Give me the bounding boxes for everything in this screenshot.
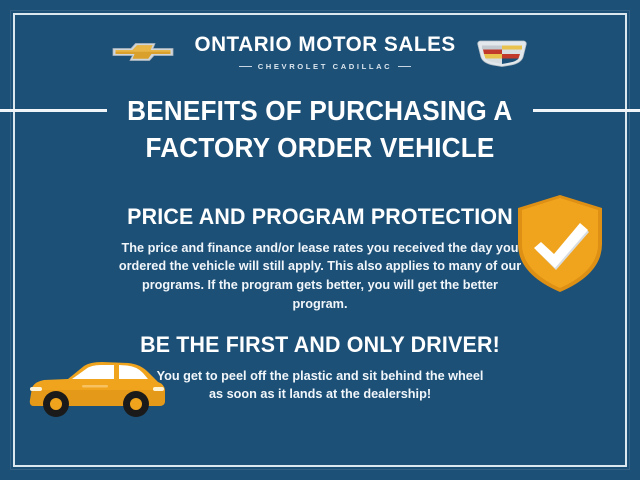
brand-text-block: ONTARIO MOTOR SALES CHEVROLET CADILLAC bbox=[189, 34, 461, 71]
title-line-2: FACTORY ORDER VEHICLE bbox=[16, 134, 624, 162]
title-rule-right-line bbox=[533, 109, 640, 112]
brand-subtitle-row: CHEVROLET CADILLAC bbox=[239, 62, 412, 71]
poster-title: BENEFITS OF PURCHASING A FACTORY ORDER V… bbox=[0, 97, 640, 161]
title-rule-left-line bbox=[0, 109, 107, 112]
dealership-header: ONTARIO MOTOR SALES CHEVROLET CADILLAC bbox=[0, 34, 640, 71]
benefit-heading: BE THE FIRST AND ONLY DRIVER! bbox=[16, 334, 624, 357]
subtitle-dash-right bbox=[398, 66, 411, 67]
chevrolet-bowtie-icon bbox=[111, 37, 175, 67]
title-line-1: BENEFITS OF PURCHASING A bbox=[127, 97, 512, 125]
subtitle-dash-left bbox=[239, 66, 252, 67]
title-line-1-row: BENEFITS OF PURCHASING A bbox=[0, 97, 640, 125]
brand-name: ONTARIO MOTOR SALES bbox=[194, 34, 455, 56]
title-rule-left bbox=[0, 106, 107, 116]
car-icon bbox=[22, 356, 170, 422]
title-rule-right bbox=[533, 106, 640, 116]
cadillac-crest-icon bbox=[475, 35, 529, 69]
brand-subtitle: CHEVROLET CADILLAC bbox=[258, 62, 393, 71]
shield-check-icon bbox=[512, 192, 608, 295]
promotional-poster: ONTARIO MOTOR SALES CHEVROLET CADILLAC bbox=[0, 0, 640, 480]
